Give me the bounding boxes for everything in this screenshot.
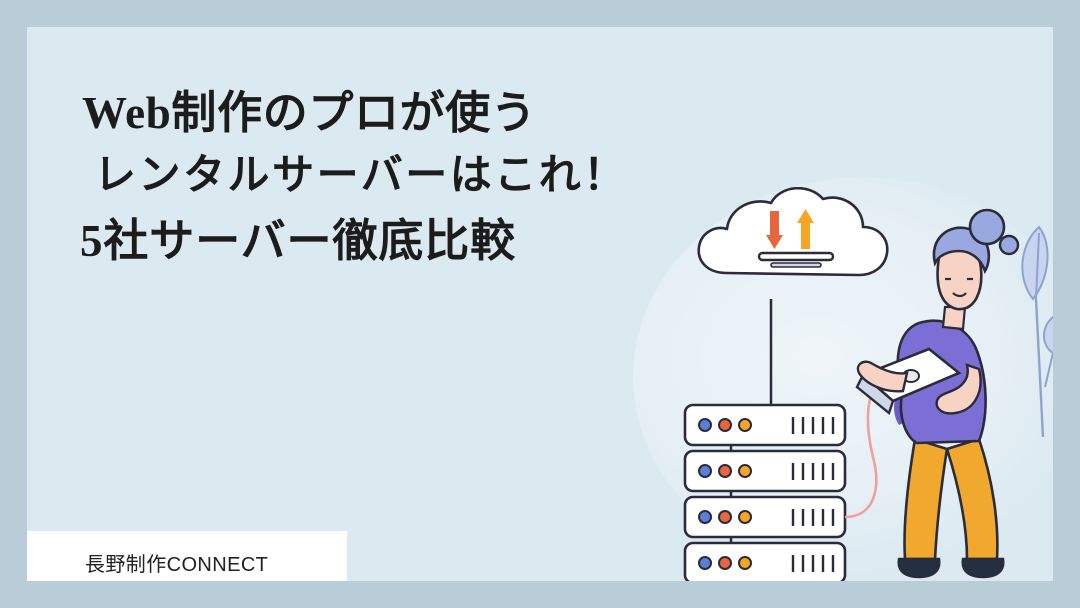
poster-inner-panel: Web制作のプロが使う レンタルサーバーはこれ！ 5社サーバー徹底比較: [27, 27, 1053, 581]
headline-line-3: 5社サーバー徹底比較: [60, 208, 740, 274]
cloud-upload-download-icon: [699, 188, 888, 275]
headline-line-1: Web制作のプロが使う: [60, 82, 740, 144]
brand-tag: 長野制作CONNECT: [27, 531, 347, 581]
headline-line-2: レンタルサーバーはこれ！: [60, 144, 740, 208]
poster-canvas: Web制作のプロが使う レンタルサーバーはこれ！ 5社サーバー徹底比較: [0, 0, 1080, 608]
server-unit-1: [685, 405, 845, 445]
server-unit-3: [685, 497, 845, 537]
page-title: Web制作のプロが使う レンタルサーバーはこれ！ 5社サーバー徹底比較: [60, 82, 740, 274]
server-unit-2: [685, 451, 845, 491]
server-unit-4: [685, 543, 845, 581]
potted-plant-icon: [1022, 227, 1053, 437]
server-rack-stack: [685, 405, 845, 581]
brand-tag-label: 長野制作CONNECT: [27, 548, 268, 577]
cloud-server-person-illustration: [667, 187, 1053, 581]
